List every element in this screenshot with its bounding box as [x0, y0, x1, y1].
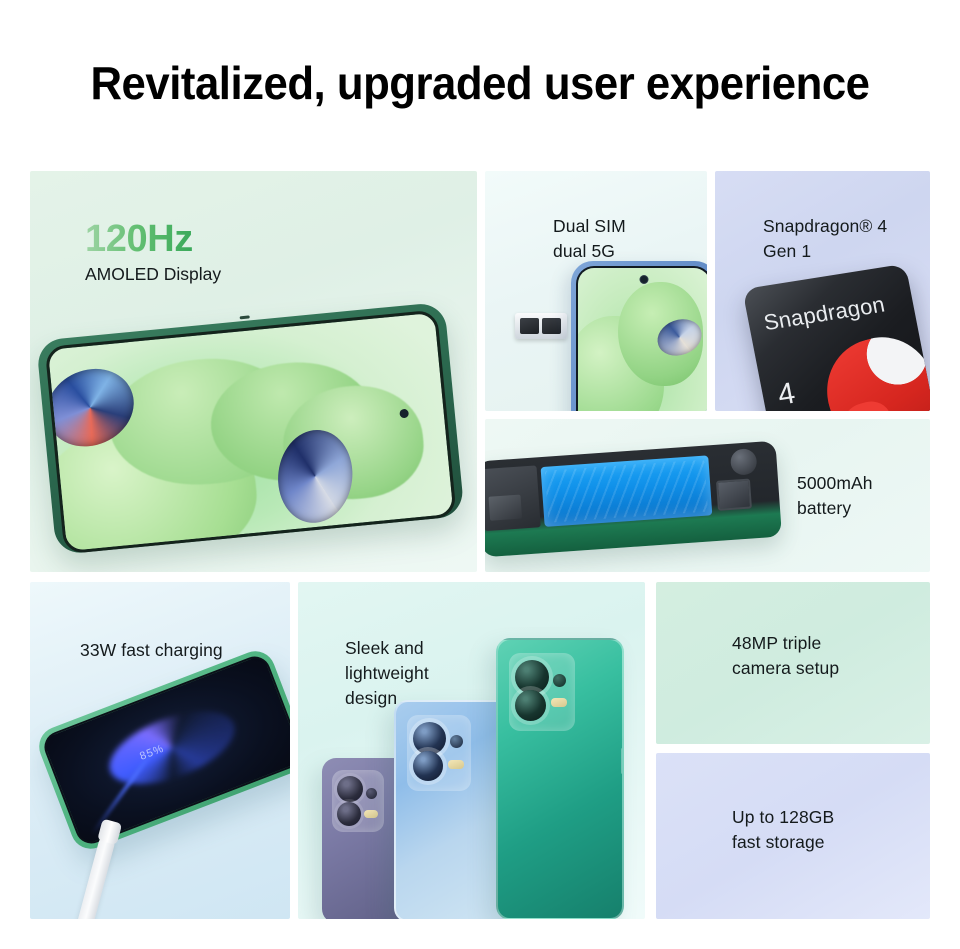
camera-lens-secondary-icon — [413, 751, 443, 781]
dual-sim-label: Dual SIM dual 5G — [553, 214, 626, 264]
front-camera-icon — [640, 275, 649, 284]
storage-label: Up to 128GB fast storage — [732, 805, 834, 855]
fast-charging-label: 33W fast charging — [80, 638, 223, 663]
phone-back-green — [496, 638, 624, 919]
sim-phone-image — [571, 261, 707, 411]
camera-setup-label: 48MP triple camera setup — [732, 631, 839, 681]
mainboard — [485, 465, 541, 531]
battery-label: 5000mAh battery — [797, 471, 873, 521]
flash-icon — [551, 698, 567, 707]
sim-tray-icon — [515, 313, 567, 339]
refresh-rate-headline: 120Hz — [85, 218, 193, 261]
chip-number-text: 4 Gen 1 — [775, 375, 825, 411]
snapdragon-chip-image: Snapdragon 4 Gen 1 — [742, 264, 930, 411]
card-amoled-display[interactable]: 120Hz AMOLED Display — [30, 171, 477, 572]
earpiece — [240, 315, 250, 319]
card-sleek-design[interactable]: Sleek and lightweight design — [298, 582, 645, 919]
phone-screen: 85% — [40, 652, 290, 848]
card-dual-sim[interactable]: Dual SIM dual 5G — [485, 171, 707, 411]
charging-animation-graphic — [100, 697, 245, 800]
camera-lens-secondary-icon — [337, 802, 361, 826]
snapdragon-s-logo-icon — [813, 326, 930, 411]
feature-grid-page: Revitalized, upgraded user experience 12… — [0, 0, 960, 949]
page-title: Revitalized, upgraded user experience — [24, 56, 936, 110]
camera-lens-secondary-icon — [515, 690, 546, 721]
camera-lens-main-icon — [413, 722, 446, 755]
card-snapdragon[interactable]: Snapdragon® 4 Gen 1 Snapdragon 4 Gen 1 — [715, 171, 930, 411]
snapdragon-label: Snapdragon® 4 Gen 1 — [763, 214, 887, 264]
chip-number-value: 4 — [775, 377, 798, 411]
card-battery[interactable]: 5000mAh battery — [485, 419, 930, 572]
phone-screen — [45, 309, 457, 554]
battery-cutaway-image — [485, 441, 782, 558]
amoled-display-subtitle: AMOLED Display — [85, 264, 221, 285]
landscape-phone-image — [36, 302, 465, 555]
camera-module — [730, 448, 758, 476]
camera-lens-main-icon — [515, 660, 549, 694]
battery-cell — [541, 455, 713, 527]
phone-screen — [576, 266, 707, 411]
flash-icon — [448, 760, 464, 769]
flash-icon — [364, 810, 378, 818]
card-storage[interactable]: Up to 128GB fast storage — [656, 753, 930, 919]
card-fast-charging[interactable]: 33W fast charging 85% — [30, 582, 290, 919]
side-button — [621, 748, 624, 774]
sleek-design-label: Sleek and lightweight design — [345, 636, 429, 711]
chip-brand-text: Snapdragon — [762, 292, 887, 337]
charging-phone-image: 85% — [33, 645, 290, 854]
card-camera-setup[interactable]: 48MP triple camera setup — [656, 582, 930, 744]
chip-square — [716, 479, 752, 511]
camera-lens-macro-icon — [553, 674, 566, 687]
camera-lens-macro-icon — [366, 788, 377, 799]
camera-lens-macro-icon — [450, 735, 463, 748]
camera-lens-main-icon — [337, 776, 363, 802]
